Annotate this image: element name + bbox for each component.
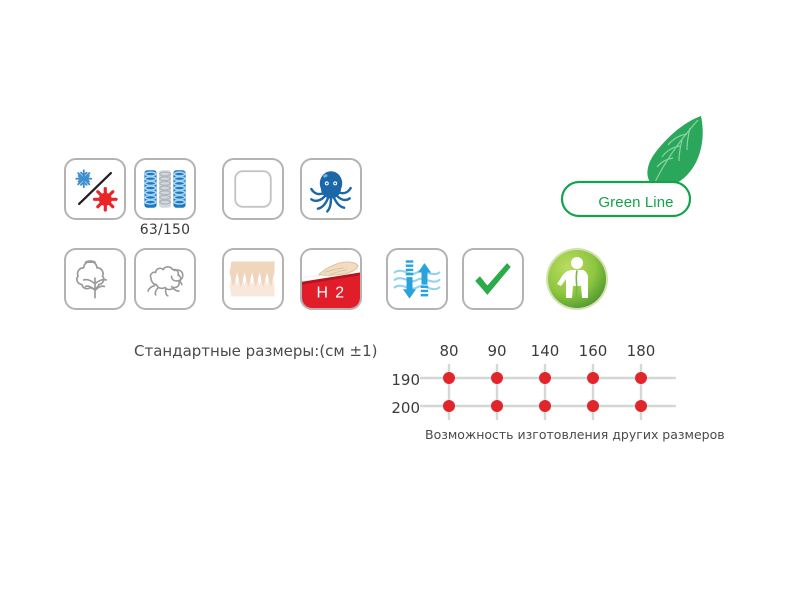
octopus-icon (302, 160, 360, 218)
blank-square-icon (224, 160, 282, 218)
size-grid-svg (404, 338, 694, 430)
cotton-plant-icon (66, 250, 124, 308)
spring-count-label: 63/150 (120, 222, 210, 238)
size-availability-grid (404, 338, 694, 430)
blank-icon-tile (222, 158, 284, 220)
ergonomic-badge (544, 246, 610, 312)
sun-ray-group (95, 189, 117, 211)
green-line-label: Green Line (576, 194, 696, 211)
zigzag-foam-icon (224, 250, 282, 308)
foam-icon-tile (222, 248, 284, 310)
grid-lines (420, 364, 676, 420)
wool-icon-tile (134, 248, 196, 310)
green-check-icon (464, 250, 522, 308)
custom-sizes-note: Возможность изготовления других размеров (425, 427, 725, 442)
climate-icon-tile (64, 158, 126, 220)
pocket-spring-icon (136, 160, 194, 218)
standard-sizes-label: Стандартные размеры:(см ±1) (134, 342, 377, 360)
octopus-icon-tile (300, 158, 362, 220)
pocket-springs-icon-tile (134, 158, 196, 220)
certified-icon-tile (462, 248, 524, 310)
firmness-level-text: H 2 (317, 285, 346, 302)
green-line-logo: Green Line (556, 110, 746, 220)
airflow-arrows-icon (388, 250, 446, 308)
cotton-icon-tile (64, 248, 126, 310)
firmness-icon-tile: H 2 (300, 248, 362, 310)
product-spec-sheet: 63/150 (0, 0, 800, 600)
snowflake-sun-icon (66, 160, 124, 218)
sheep-wool-icon (136, 250, 194, 308)
ergonomic-person-badge-icon (544, 246, 610, 312)
hand-firmness-icon: H 2 (302, 250, 360, 308)
airflow-icon-tile (386, 248, 448, 310)
